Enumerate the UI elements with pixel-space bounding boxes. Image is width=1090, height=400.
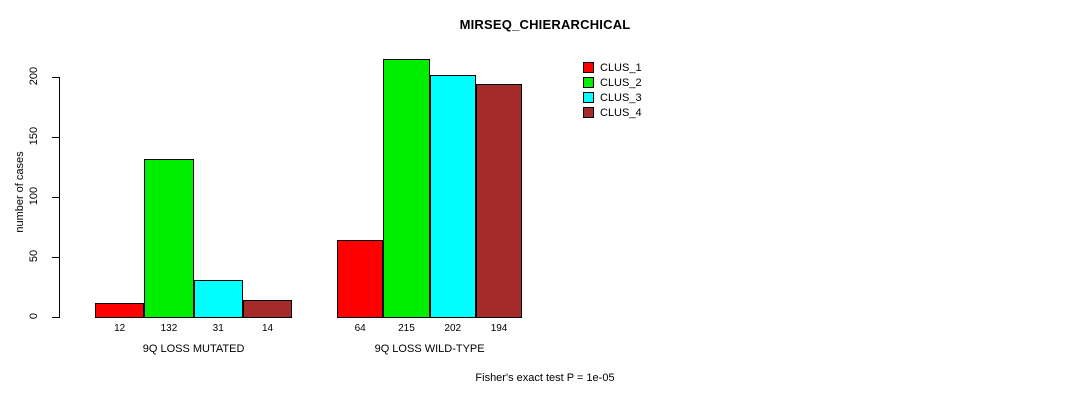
chart-title: MIRSEQ_CHIERARCHICAL: [0, 17, 1090, 32]
legend-item: CLUS_3: [583, 90, 642, 105]
y-axis-tick-label: 50: [28, 236, 40, 276]
bar: [337, 240, 383, 318]
legend-item: CLUS_4: [583, 105, 642, 120]
bar: [243, 300, 292, 318]
y-axis-tick-label: 150: [28, 116, 40, 156]
legend-item-label: CLUS_4: [600, 107, 642, 119]
statistic-annotation: Fisher's exact test P = 1e-05: [0, 372, 1090, 384]
bar-value-label: 132: [144, 323, 193, 334]
chart-title-text: MIRSEQ_CHIERARCHICAL: [460, 17, 631, 32]
legend-item: CLUS_1: [583, 60, 642, 75]
group-label: 9Q LOSS WILD-TYPE: [337, 343, 522, 355]
y-axis-tick: [52, 317, 59, 318]
bar: [430, 75, 476, 318]
legend-item-label: CLUS_2: [600, 77, 642, 89]
bar-value-label: 64: [337, 323, 383, 334]
bar: [95, 303, 144, 318]
legend-color-swatch: [583, 77, 594, 88]
bar-value-label: 14: [243, 323, 292, 334]
legend-color-swatch: [583, 92, 594, 103]
bar-value-label: 31: [194, 323, 243, 334]
y-axis-tick: [52, 197, 59, 198]
y-axis-label: number of cases: [14, 132, 26, 252]
legend-item-label: CLUS_1: [600, 62, 642, 74]
y-axis-tick-label: 0: [28, 296, 40, 336]
y-axis-tick: [52, 137, 59, 138]
bar-chart-plot: MIRSEQ_CHIERARCHICAL number of cases 050…: [0, 0, 1090, 400]
legend-color-swatch: [583, 62, 594, 73]
group-label: 9Q LOSS MUTATED: [95, 343, 292, 355]
bar: [383, 59, 429, 318]
chart-legend: CLUS_1CLUS_2CLUS_3CLUS_4: [583, 60, 642, 120]
legend-item: CLUS_2: [583, 75, 642, 90]
bar-value-label: 202: [430, 323, 476, 334]
legend-color-swatch: [583, 107, 594, 118]
y-axis-tick-label: 200: [28, 56, 40, 96]
y-axis-tick: [52, 77, 59, 78]
bar: [476, 84, 522, 318]
y-axis-line: [59, 77, 60, 318]
bar: [194, 280, 243, 318]
bar-value-label: 194: [476, 323, 522, 334]
legend-item-label: CLUS_3: [600, 92, 642, 104]
y-axis-tick: [52, 257, 59, 258]
bar-value-label: 12: [95, 323, 144, 334]
bar: [144, 159, 193, 318]
bar-value-label: 215: [383, 323, 429, 334]
statistic-annotation-text: Fisher's exact test P = 1e-05: [475, 372, 614, 384]
y-axis-tick-label: 100: [28, 176, 40, 216]
